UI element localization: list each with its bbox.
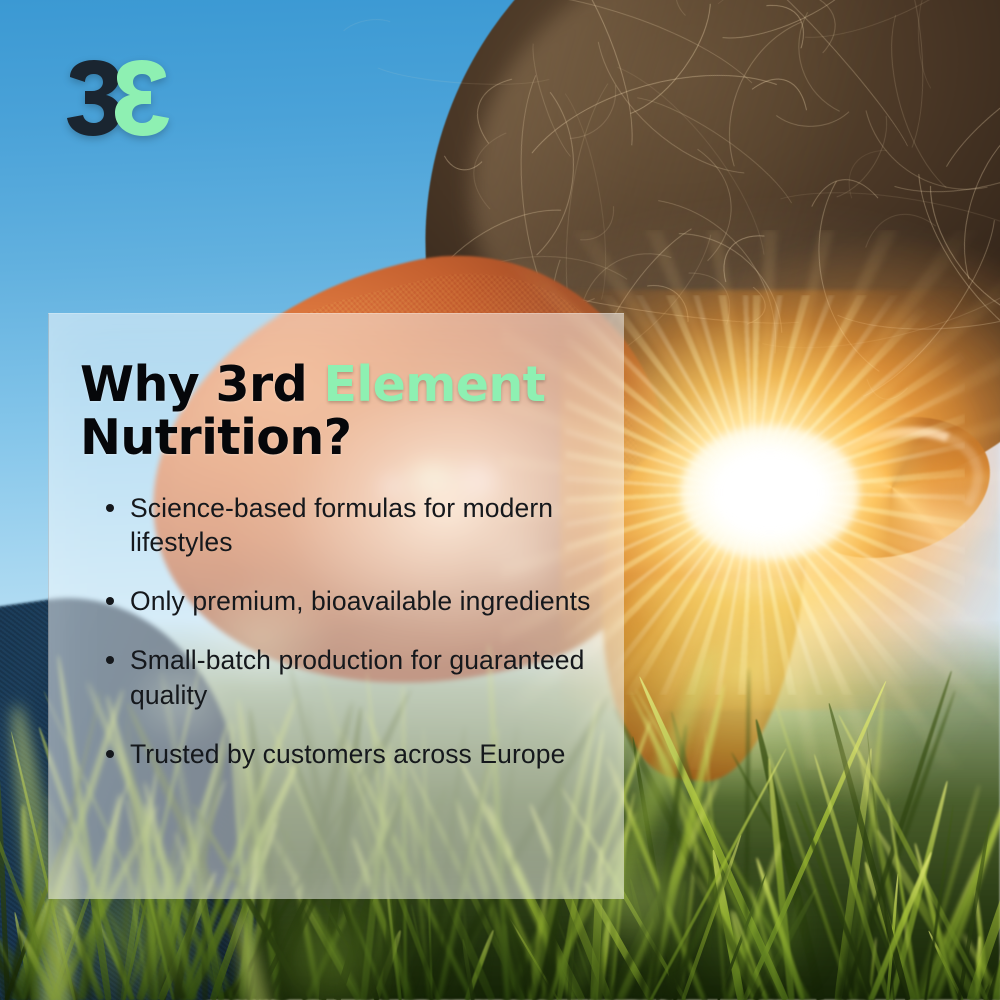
bullet-dot-icon — [106, 750, 114, 758]
headline-line2: Nutrition? — [80, 409, 351, 466]
sun-core — [680, 425, 860, 560]
headline-accent: Element — [324, 356, 546, 413]
logo-mark-dark — [67, 60, 121, 136]
list-item-label: Only premium, bioavailable ingredients — [130, 586, 590, 616]
page-title: Why 3rd Element Nutrition? — [80, 359, 594, 465]
list-item-label: Trusted by customers across Europe — [130, 739, 565, 769]
list-item: Only premium, bioavailable ingredients — [104, 584, 594, 618]
brand-logo[interactable] — [62, 58, 174, 140]
content-panel: Why 3rd Element Nutrition? Science-based… — [48, 313, 624, 899]
list-item: Trusted by customers across Europe — [104, 737, 594, 771]
promo-graphic: Why 3rd Element Nutrition? Science-based… — [0, 0, 1000, 1000]
list-item: Science-based formulas for modern lifest… — [104, 491, 594, 559]
bullet-dot-icon — [106, 656, 114, 664]
list-item-label: Science-based formulas for modern lifest… — [130, 493, 553, 557]
bullet-dot-icon — [106, 504, 114, 512]
benefits-list: Science-based formulas for modern lifest… — [80, 491, 594, 771]
headline-prefix: Why 3rd — [80, 356, 324, 413]
bullet-dot-icon — [106, 597, 114, 605]
list-item: Small-batch production for guaranteed qu… — [104, 643, 594, 711]
logo-mark-green — [115, 60, 169, 136]
list-item-label: Small-batch production for guaranteed qu… — [130, 645, 584, 709]
